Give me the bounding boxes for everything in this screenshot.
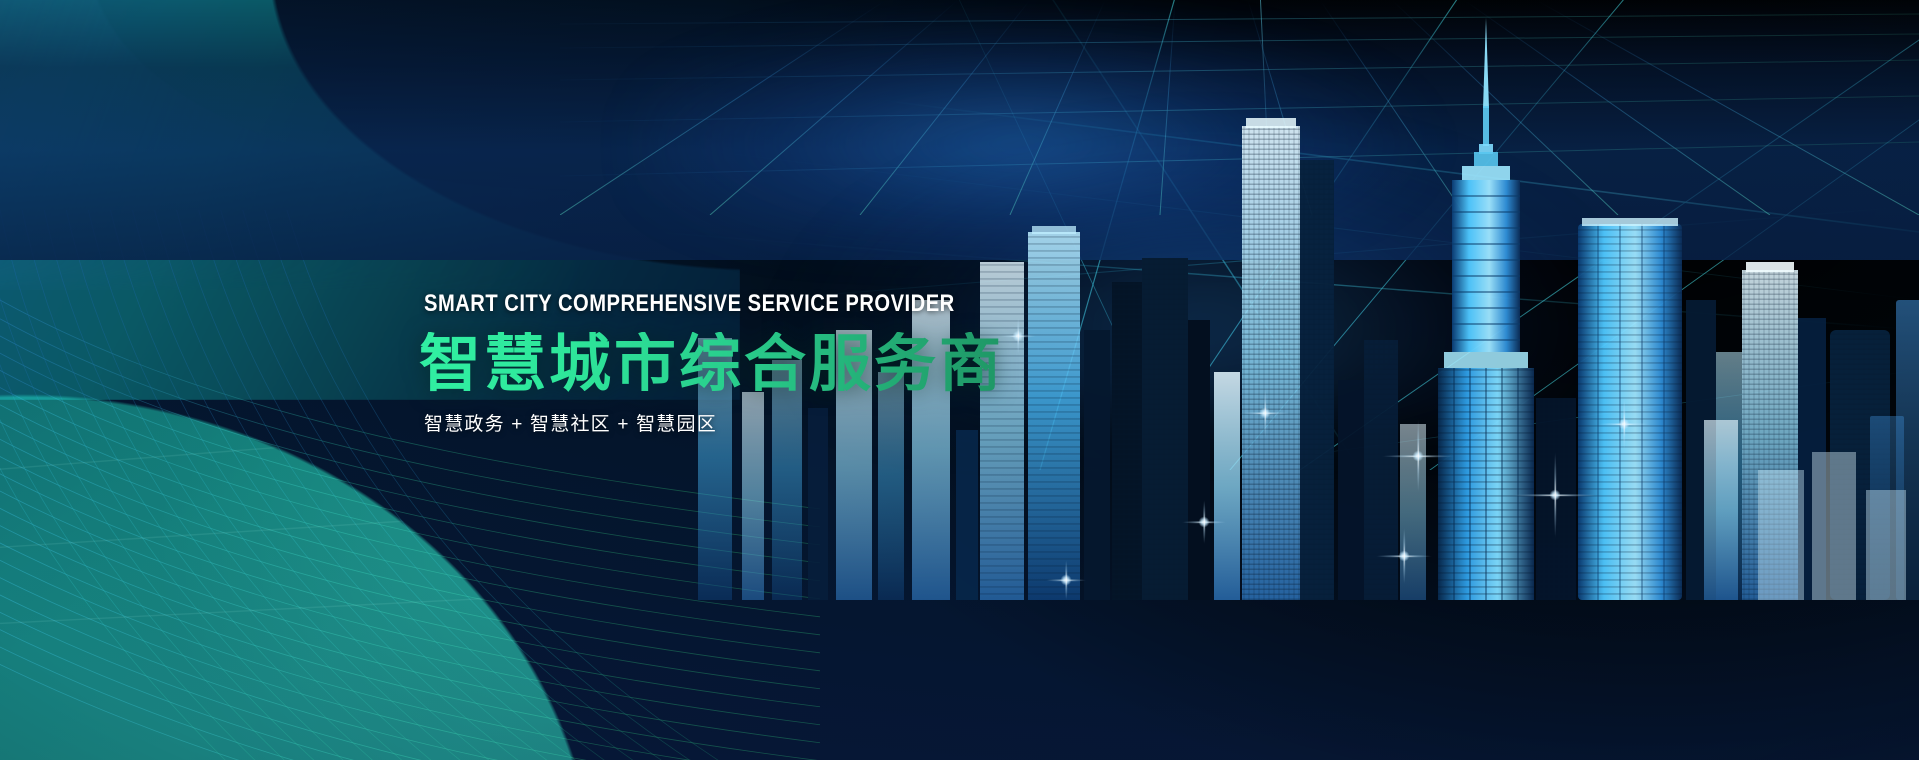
top-left-teal-wave-glow xyxy=(0,0,580,290)
ground-glow xyxy=(640,0,1540,240)
hero-subline: 智慧政务 + 智慧社区 + 智慧园区 xyxy=(424,412,1056,439)
lens-flare-sparkle xyxy=(1512,452,1598,538)
hero-eyebrow: SMART CITY COMPREHENSIVE SERVICE PROVIDE… xyxy=(424,292,955,316)
hero-headline: 智慧城市综合服务商 xyxy=(419,332,1056,398)
lens-flare-sparkle xyxy=(1240,388,1290,438)
hero-copy-block: SMART CITY COMPREHENSIVE SERVICE PROVIDE… xyxy=(424,292,1056,438)
lens-flare-sparkle xyxy=(1382,420,1454,492)
ground-plane xyxy=(0,0,1919,260)
lens-flare-sparkle xyxy=(1182,500,1226,544)
perspective-grid xyxy=(560,0,1919,215)
lens-flare-sparkle xyxy=(1376,528,1432,584)
lens-flare-sparkle xyxy=(1598,398,1650,450)
lens-flare-sparkle xyxy=(1046,560,1086,600)
smart-city-hero-banner: SMART CITY COMPREHENSIVE SERVICE PROVIDE… xyxy=(0,0,1919,760)
